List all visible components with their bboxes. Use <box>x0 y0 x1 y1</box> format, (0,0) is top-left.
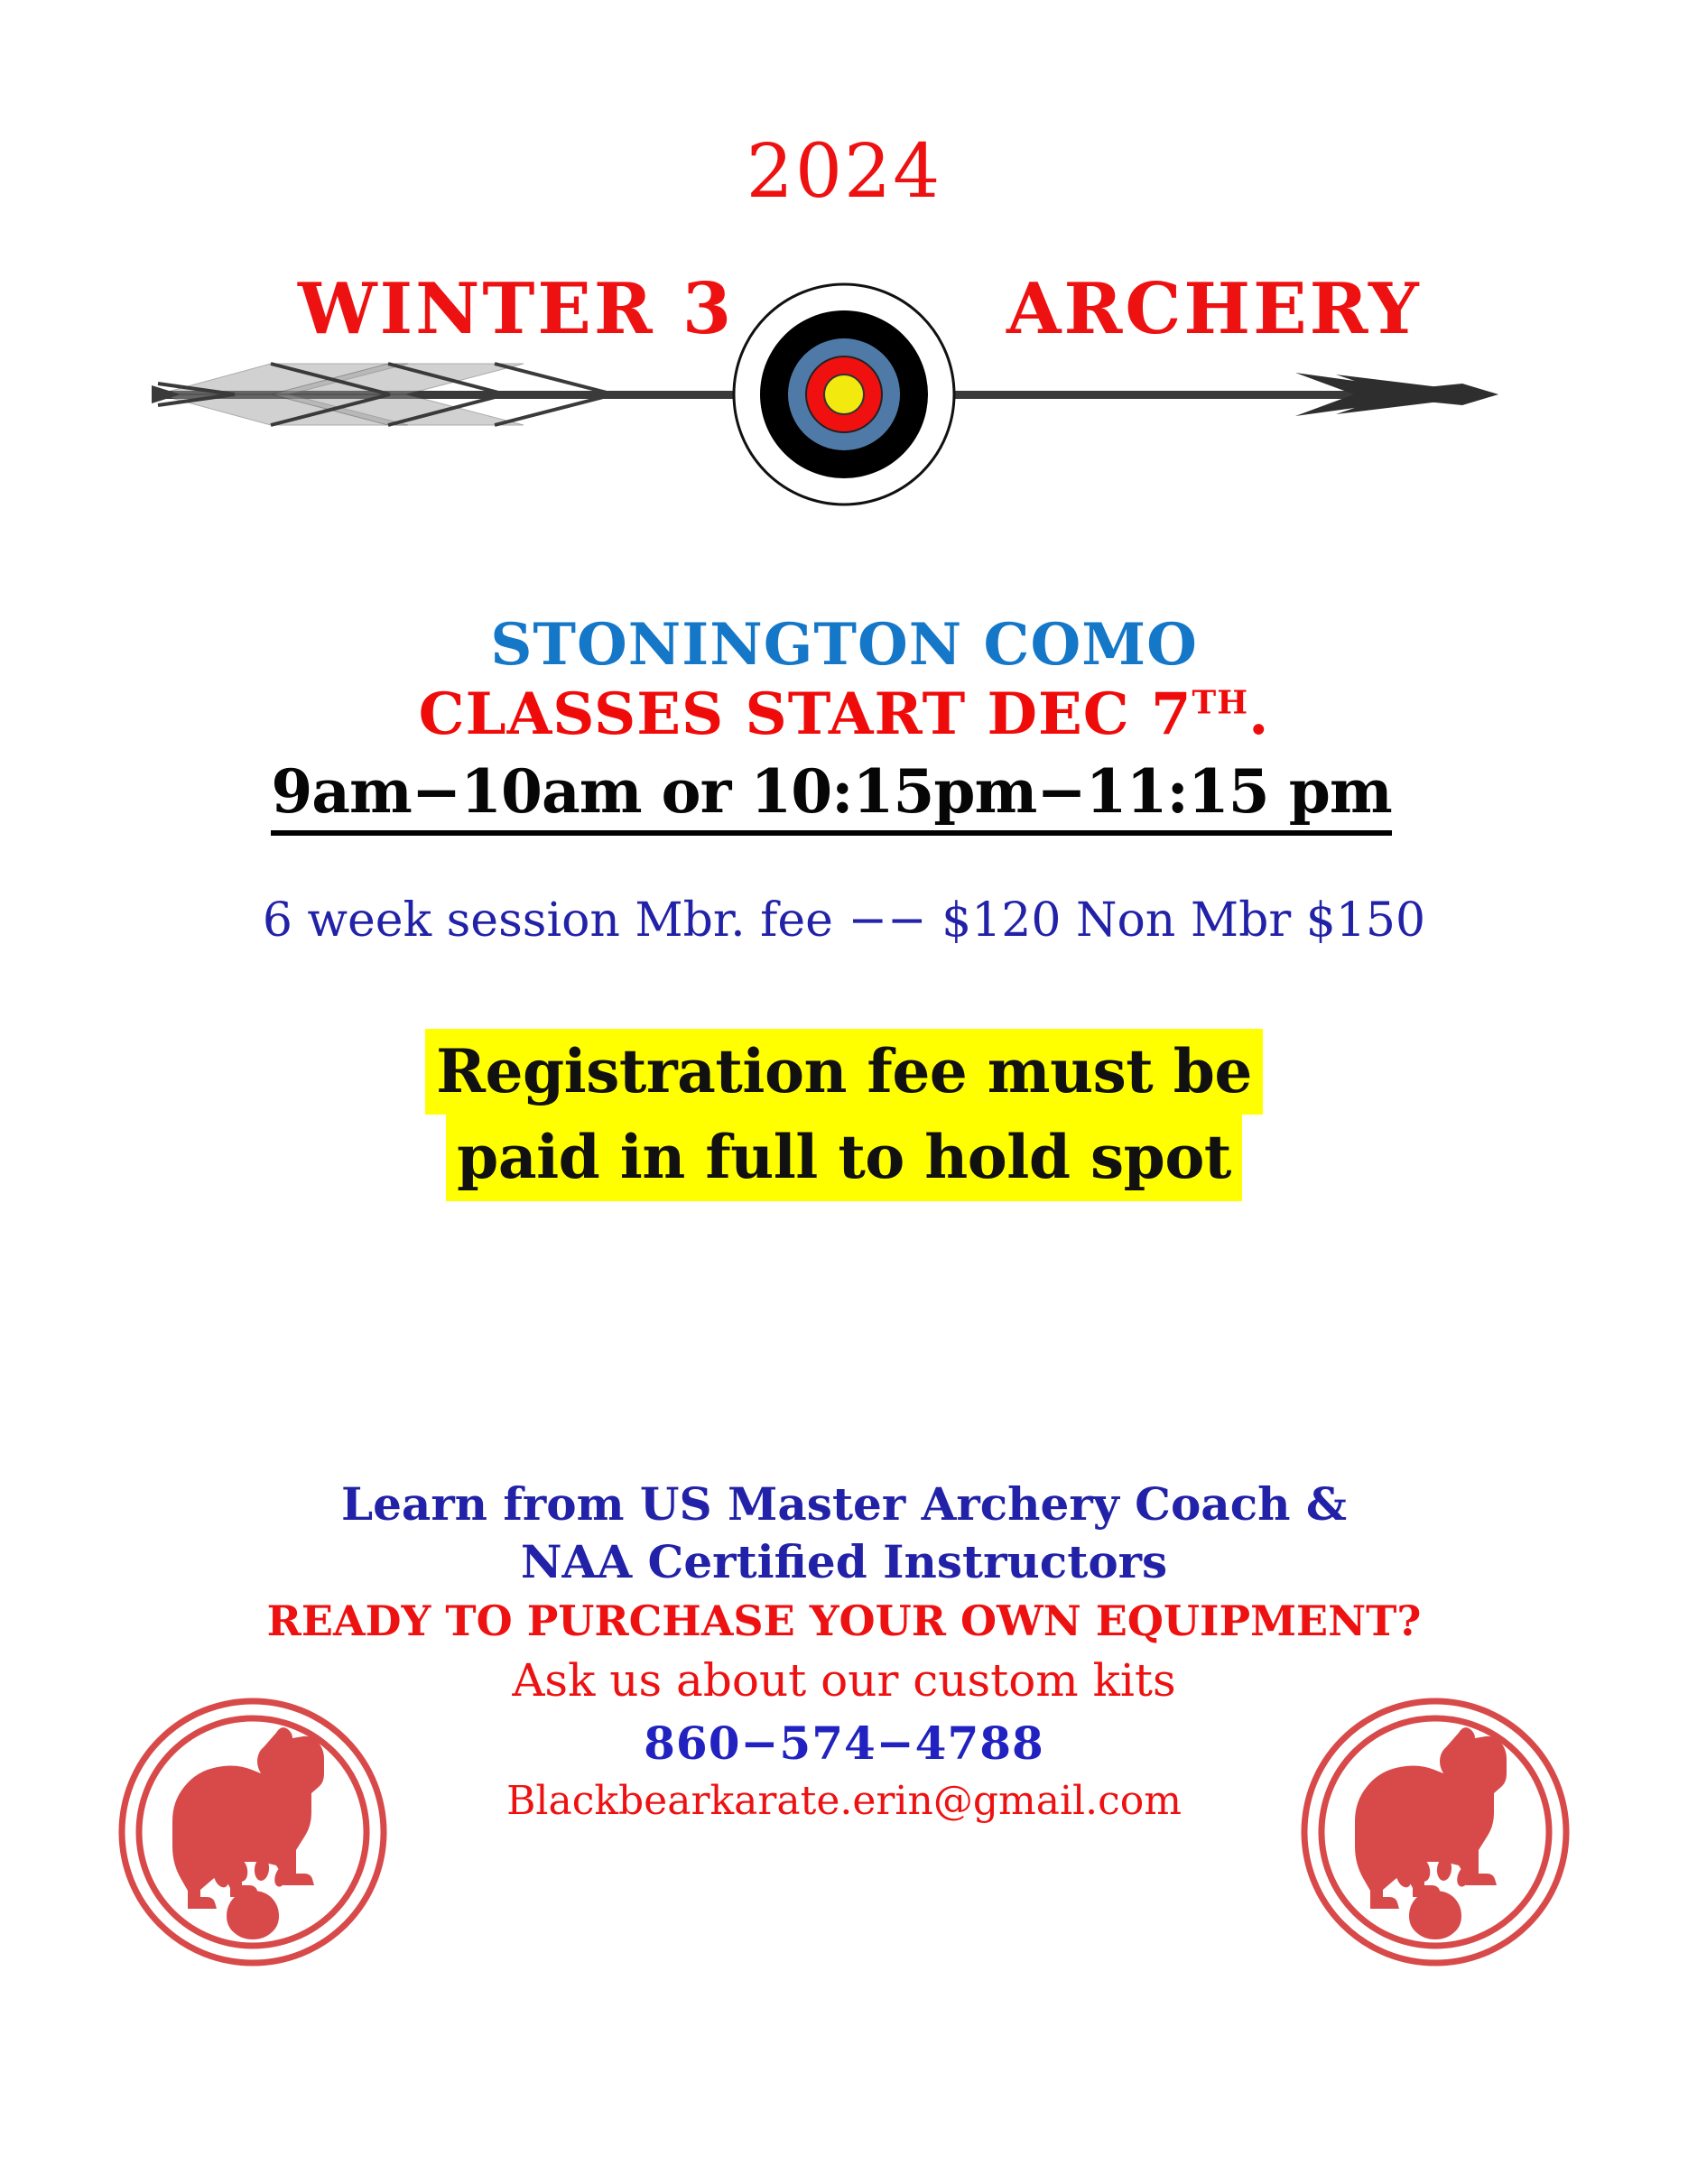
header-title-right: ARCHERY <box>1006 268 1422 350</box>
class-start-line: CLASSES START DEC 7TH. <box>0 683 1688 745</box>
black-bear-karate-logo-right <box>1300 1697 1571 1967</box>
coach-line: Learn from US Master Archery Coach & <box>0 1476 1688 1533</box>
flyer-page: 2024 <box>0 0 1688 2184</box>
class-times-line: 9am−10am or 10:15pm−11:15 pm <box>271 756 1391 836</box>
certification-line: NAA Certified Instructors <box>0 1533 1688 1591</box>
black-bear-karate-logo-left <box>117 1697 388 1967</box>
equipment-question-line: READY TO PURCHASE YOUR OWN EQUIPMENT? <box>0 1595 1688 1648</box>
archery-target-icon <box>0 257 1688 555</box>
main-text-block: STONINGTON COMO CLASSES START DEC 7TH. 9… <box>0 614 1688 1201</box>
registration-notice-row-2: paid in full to hold spot <box>0 1115 1688 1200</box>
class-start-prefix: CLASSES START DEC 7 <box>419 680 1192 748</box>
class-start-period: . <box>1248 680 1269 748</box>
header-band: WINTER 3 ARCHERY <box>0 257 1688 555</box>
session-fee-line: 6 week session Mbr. fee −− $120 Non Mbr … <box>0 895 1688 946</box>
class-start-ordinal: TH <box>1192 684 1249 722</box>
registration-notice-line-1: Registration fee must be <box>425 1029 1263 1115</box>
header-title-left: WINTER 3 <box>298 268 734 350</box>
page-year: 2024 <box>0 135 1688 209</box>
venue-line: STONINGTON COMO <box>0 614 1688 676</box>
registration-notice-row-1: Registration fee must be <box>0 1029 1688 1115</box>
class-times-row: 9am−10am or 10:15pm−11:15 pm <box>0 756 1688 836</box>
registration-notice-line-2: paid in full to hold spot <box>446 1115 1242 1200</box>
